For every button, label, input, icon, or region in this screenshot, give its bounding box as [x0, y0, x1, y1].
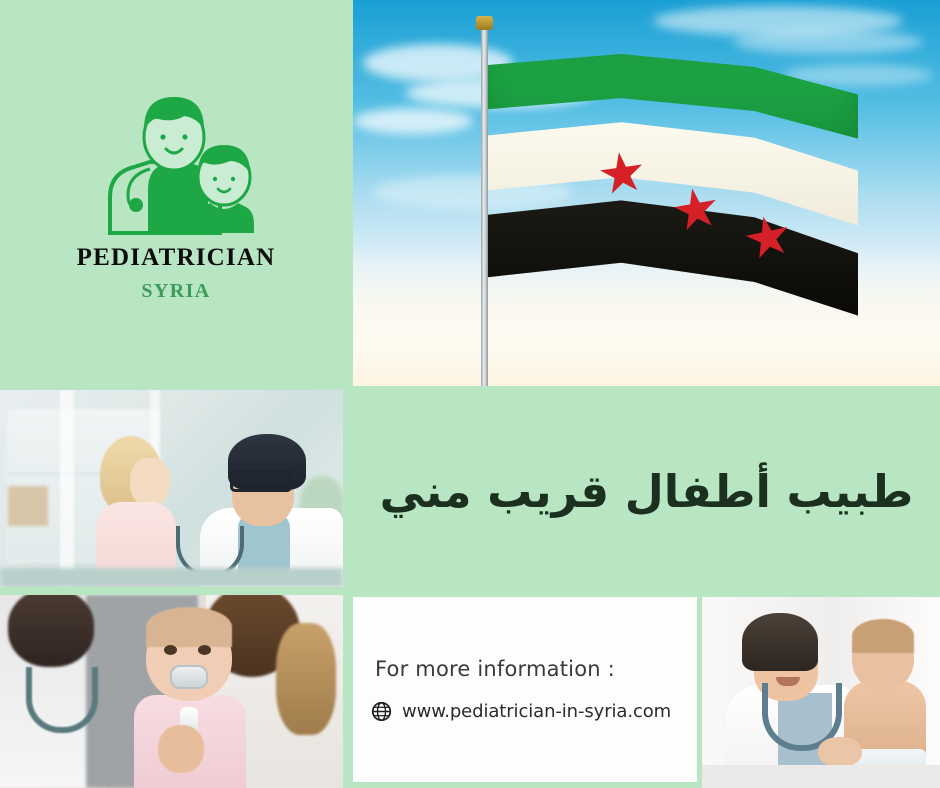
logo-block: PEDIATRICIAN SYRIA: [0, 0, 352, 386]
cloud: [353, 108, 473, 134]
headline-area: طبيب أطفال قريب مني: [353, 386, 940, 596]
flagpole-finial: [476, 16, 493, 30]
girl-face: [130, 458, 170, 506]
shelf-box: [8, 486, 48, 526]
pediatrician-doctor-and-child-icon: [90, 85, 262, 237]
baby-eye: [198, 645, 211, 655]
doctor-glasses: [230, 470, 292, 492]
headline-text: طبيب أطفال قريب مني: [380, 465, 914, 518]
syrian-flag-photo: [353, 0, 940, 386]
doctor-hand: [158, 725, 204, 773]
exam-table: [0, 568, 343, 587]
pacifier: [170, 665, 208, 689]
doctor-examining-girl-photo: [0, 390, 343, 587]
doctor-hand: [818, 737, 862, 767]
info-card: For more information : www.pediatrician-…: [353, 597, 697, 782]
doctor-examining-baby-photo: [0, 595, 343, 788]
poster-canvas: PEDIATRICIAN SYRIA طبيب أطفال قريب مني: [0, 0, 940, 788]
more-information-label: For more information :: [375, 657, 697, 681]
flag: [488, 48, 858, 318]
baby-hair: [146, 607, 232, 647]
website-row[interactable]: www.pediatrician-in-syria.com: [371, 701, 697, 722]
website-url[interactable]: www.pediatrician-in-syria.com: [402, 701, 671, 722]
logo-subtitle: SYRIA: [141, 281, 210, 301]
window-frame: [60, 390, 74, 587]
baby-hair: [852, 619, 914, 653]
doctor-smiling-with-baby-photo: [702, 597, 940, 788]
logo-title: PEDIATRICIAN: [77, 245, 276, 270]
flagpole: [481, 28, 488, 386]
mother-curls: [276, 623, 336, 735]
stethoscope: [26, 667, 98, 733]
baby-eye: [164, 645, 177, 655]
doctor-hair: [742, 613, 818, 671]
exam-table: [702, 765, 940, 788]
doctor-head: [8, 595, 94, 667]
globe-icon: [371, 701, 392, 722]
flag-stripe-black: [488, 198, 858, 318]
